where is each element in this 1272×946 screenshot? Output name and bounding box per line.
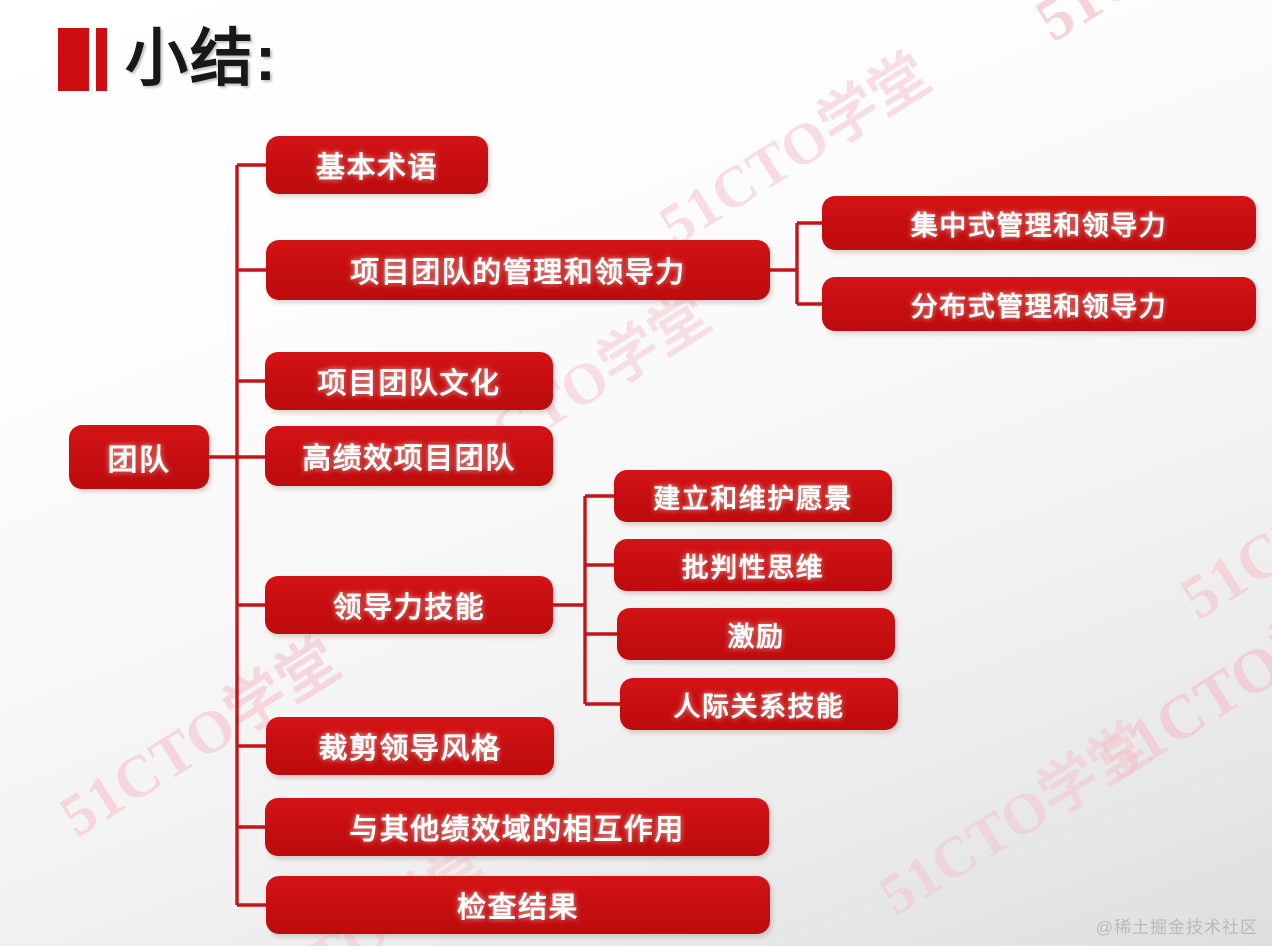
node-high-performing-project-team[interactable]: 高绩效项目团队 [265, 426, 553, 486]
node-motivation[interactable]: 激励 [617, 608, 895, 660]
node-interpersonal-skills[interactable]: 人际关系技能 [620, 678, 898, 730]
node-project-team-management-leadership[interactable]: 项目团队的管理和领导力 [266, 240, 770, 300]
page-title-text: 小结: [125, 28, 278, 91]
node-critical-thinking[interactable]: 批判性思维 [614, 539, 892, 591]
node-interaction-with-other-performance-domains[interactable]: 与其他绩效域的相互作用 [265, 798, 769, 856]
node-establish-maintain-vision[interactable]: 建立和维护愿景 [614, 470, 892, 522]
node-distributed-management-leadership[interactable]: 分布式管理和领导力 [822, 277, 1256, 331]
node-tailoring-leadership-style[interactable]: 裁剪领导风格 [266, 717, 554, 775]
node-basic-terminology[interactable]: 基本术语 [266, 136, 488, 194]
attribution-watermark: @稀土掘金技术社区 [1096, 913, 1258, 938]
node-leadership-skills[interactable]: 领导力技能 [265, 576, 553, 634]
node-check-results[interactable]: 检查结果 [266, 876, 770, 934]
mindmap-diagram: 团队 基本术语 项目团队的管理和领导力 集中式管理和领导力 分布式管理和领导力 … [0, 0, 1272, 946]
slide-canvas: 51CTO学堂 51CTO学堂 51CTO学堂 51CTO学堂 51CTO学堂 … [0, 0, 1272, 946]
node-centralized-management-leadership[interactable]: 集中式管理和领导力 [822, 196, 1256, 250]
title-bar-thin-icon [96, 28, 107, 91]
red-bar-mark-icon [58, 28, 107, 91]
node-project-team-culture[interactable]: 项目团队文化 [265, 352, 553, 410]
page-title: 小结: [58, 16, 278, 102]
title-bar-wide-icon [58, 28, 89, 91]
node-root-team[interactable]: 团队 [69, 425, 209, 489]
